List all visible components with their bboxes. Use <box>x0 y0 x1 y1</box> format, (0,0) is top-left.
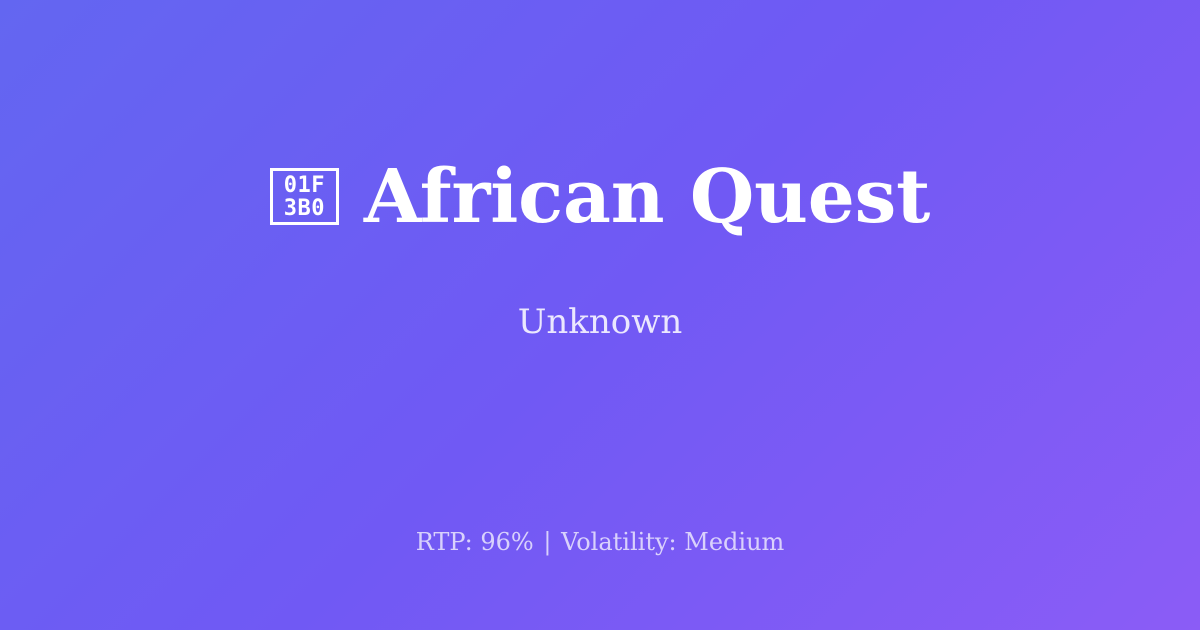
volatility-label: Volatility: <box>561 528 677 556</box>
game-stats-footer: RTP: 96% | Volatility: Medium <box>0 526 1200 558</box>
rtp-label: RTP: <box>416 528 473 556</box>
slot-machine-icon: 01F 3B0 <box>270 168 339 225</box>
tofu-codepoint-top: 01F <box>284 174 325 197</box>
rtp-value: 96% <box>480 528 533 556</box>
game-preview-card: 01F 3B0 African Quest Unknown RTP: 96% |… <box>0 0 1200 630</box>
volatility-value: Medium <box>684 528 784 556</box>
title-row: 01F 3B0 African Quest <box>270 158 930 238</box>
tofu-codepoint-bottom: 3B0 <box>284 197 325 220</box>
meta-separator: | <box>541 528 553 556</box>
hero-block: 01F 3B0 African Quest Unknown <box>0 0 1200 500</box>
game-provider-subtitle: Unknown <box>518 302 683 343</box>
page-title: African Quest <box>364 158 930 238</box>
